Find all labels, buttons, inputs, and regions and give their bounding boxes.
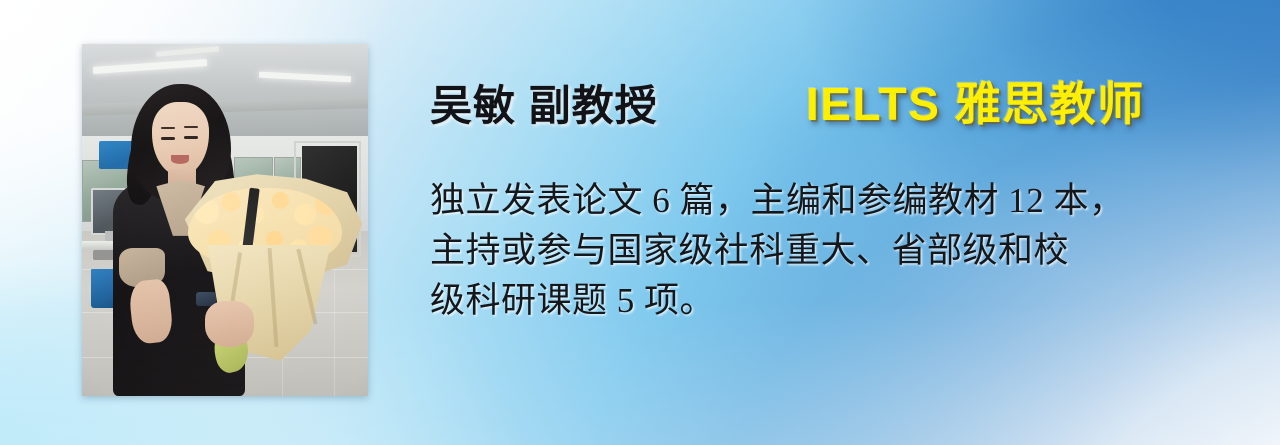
- bio-line: 独立发表论文 6 篇，主编和参编教材 12 本，: [430, 176, 1220, 226]
- portrait-photo: [82, 44, 368, 396]
- status-badge: IELTS 雅思教师: [806, 68, 1145, 134]
- profile-slide: 吴敏 副教授 IELTS 雅思教师 独立发表论文 6 篇，主编和参编教材 12 …: [0, 0, 1280, 445]
- page-title: 吴敏 副教授: [430, 72, 658, 133]
- photo-vignette: [82, 44, 368, 396]
- bio-line: 级科研课题 5 项。: [430, 276, 1220, 326]
- bio-line: 主持或参与国家级社科重大、省部级和校: [430, 226, 1220, 276]
- portrait-photo-content: [82, 44, 368, 396]
- bio-paragraph: 独立发表论文 6 篇，主编和参编教材 12 本， 主持或参与国家级社科重大、省部…: [430, 176, 1220, 326]
